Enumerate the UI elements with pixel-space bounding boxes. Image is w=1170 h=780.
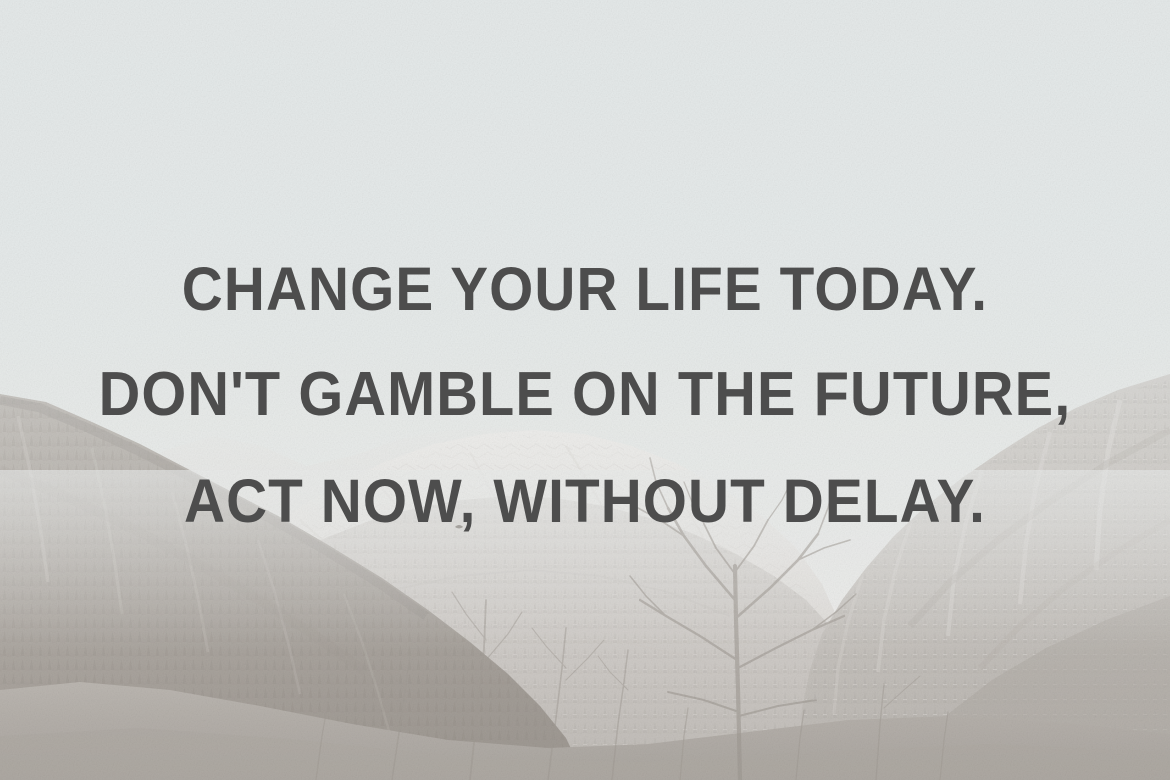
quote-line-3: ACT NOW, WITHOUT DELAY.: [41, 448, 1129, 554]
quote-line-2: DON'T GAMBLE ON THE FUTURE,: [41, 342, 1129, 448]
quote-text-block: CHANGE YOUR LIFE TODAY. DON'T GAMBLE ON …: [0, 236, 1170, 554]
quote-poster: CHANGE YOUR LIFE TODAY. DON'T GAMBLE ON …: [0, 0, 1170, 780]
quote-line-1: CHANGE YOUR LIFE TODAY.: [41, 236, 1129, 342]
